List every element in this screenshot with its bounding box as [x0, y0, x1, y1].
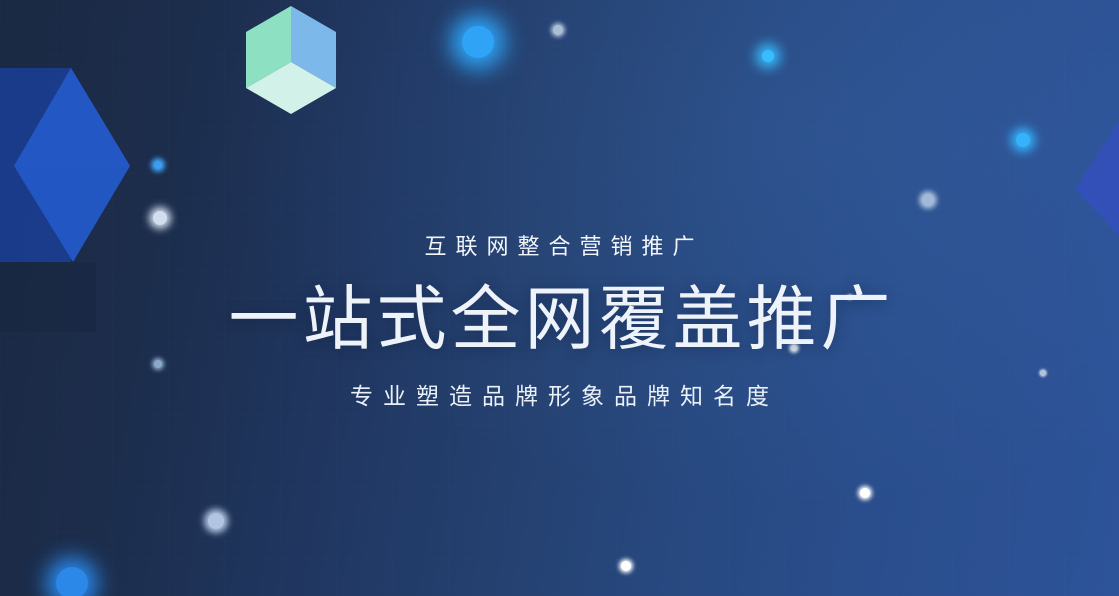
dot-pale-right — [922, 194, 934, 206]
dot-glow-large-top — [462, 26, 494, 58]
dot-glow-top-right — [762, 50, 774, 62]
right-chevron-face — [1075, 110, 1119, 290]
dot-white-left — [153, 211, 167, 225]
cube-logo — [246, 6, 336, 114]
dot-cyan-bottom-left — [56, 567, 88, 596]
dot-white-bottom-mid — [621, 561, 631, 571]
cube-face-right — [291, 6, 336, 88]
dot-tiny-far-right — [1040, 370, 1046, 376]
cube-face-bottom — [246, 62, 336, 114]
dot-glow-right-upper — [1016, 133, 1030, 147]
banner-stage: 互联网整合营销推广 一站式全网覆盖推广 专业塑造品牌形象品牌知名度 — [0, 0, 1119, 596]
dot-small-top-mid — [553, 25, 563, 35]
dot-pale-bottom-left — [208, 513, 224, 529]
banner-subline: 专业塑造品牌形象品牌知名度 — [0, 379, 1119, 413]
dot-white-mid-right — [860, 488, 870, 498]
left-hexagon-bright-face-upper — [14, 68, 130, 166]
dot-blue-left-upper — [154, 161, 162, 169]
cube-face-left — [246, 6, 291, 88]
banner-eyebrow: 互联网整合营销推广 — [0, 231, 1119, 263]
banner-headline: 一站式全网覆盖推广 — [0, 276, 1119, 362]
